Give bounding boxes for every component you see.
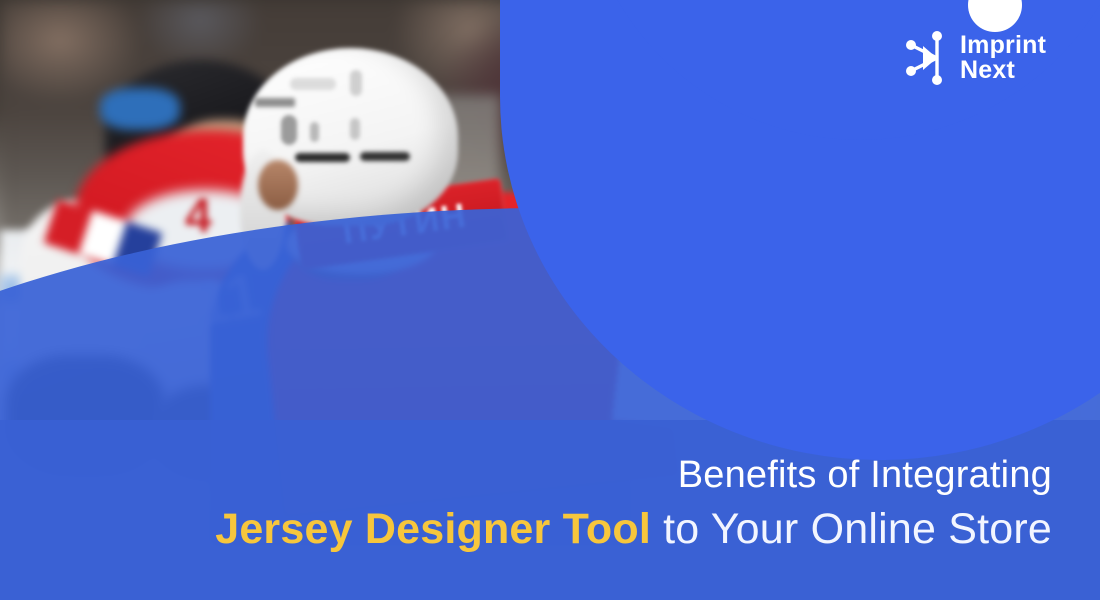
brand-name-line-2: Next [960,58,1046,83]
headline-line-2: Jersey Designer Tool to Your Online Stor… [215,500,1052,558]
imprint-next-node-icon [903,28,949,88]
headline-line-2-rest: to Your Online Store [651,505,1052,553]
brand-name-line-1: Imprint [960,33,1046,58]
brand-logo-text: Imprint Next [960,33,1046,83]
headline-line-1: Benefits of Integrating [215,450,1052,500]
brand-logo[interactable]: Imprint Next [903,28,1046,88]
blog-banner: 4 11 ПУТИН 32 [0,0,1100,600]
headline-block: Benefits of Integrating Jersey Designer … [215,450,1052,558]
headline-highlight: Jersey Designer Tool [215,505,651,553]
